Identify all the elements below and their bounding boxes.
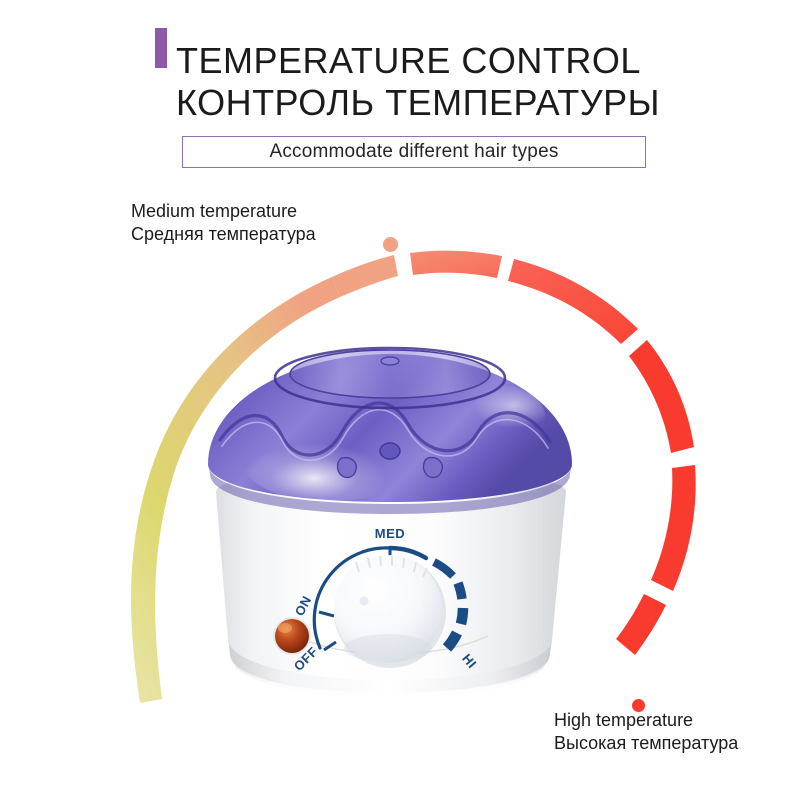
- callout-medium-temperature: Medium temperature Средняя температура: [131, 200, 316, 245]
- title-accent-bar: [155, 28, 167, 68]
- product-lid-vent-right: [424, 458, 443, 478]
- gauge-high-segment-3: [629, 340, 694, 453]
- callout-high-label-en: High temperature: [554, 709, 738, 732]
- gauge-high-segment-1: [410, 251, 502, 278]
- subtitle-text: Accommodate different hair types: [269, 141, 558, 163]
- dial-scale-segment-2: [458, 583, 462, 599]
- subtitle-box: Accommodate different hair types: [182, 136, 646, 168]
- product-lid-vent-left: [338, 458, 357, 478]
- callout-high-label-ru: Высокая температура: [554, 732, 738, 755]
- medium-temperature-dot: [383, 237, 398, 252]
- gauge-mid-arc: [332, 255, 398, 297]
- dial-label-med: MED: [375, 526, 405, 541]
- product-wax-warmer: MED ON OFF HI: [178, 320, 603, 710]
- indicator-lamp[interactable]: [275, 619, 309, 653]
- callout-medium-label-en: Medium temperature: [131, 200, 316, 223]
- title-line-en: TEMPERATURE CONTROL: [176, 40, 736, 82]
- callout-high-temperature: High temperature Высокая температура: [554, 709, 738, 754]
- infographic-page: TEMPERATURE CONTROL КОНТРОЛЬ ТЕМПЕРАТУРЫ…: [0, 0, 800, 800]
- title-line-ru: КОНТРОЛЬ ТЕМПЕРАТУРЫ: [176, 82, 736, 124]
- indicator-lamp-glint: [278, 623, 292, 633]
- product-lid-knob-nub: [381, 357, 399, 365]
- callout-medium-label-ru: Средняя температура: [131, 223, 316, 246]
- gauge-high-segment-4: [651, 465, 696, 591]
- dial-scale-segment-3: [461, 608, 463, 624]
- dial-knob-bottom-shade: [344, 634, 432, 662]
- product-lid-vent-center: [380, 443, 400, 459]
- product-lid-highlight-left: [242, 418, 414, 502]
- dial-knob-pointer-dot: [360, 597, 369, 606]
- gauge-high-segment-5: [616, 594, 666, 655]
- page-title: TEMPERATURE CONTROL КОНТРОЛЬ ТЕМПЕРАТУРЫ: [176, 40, 736, 125]
